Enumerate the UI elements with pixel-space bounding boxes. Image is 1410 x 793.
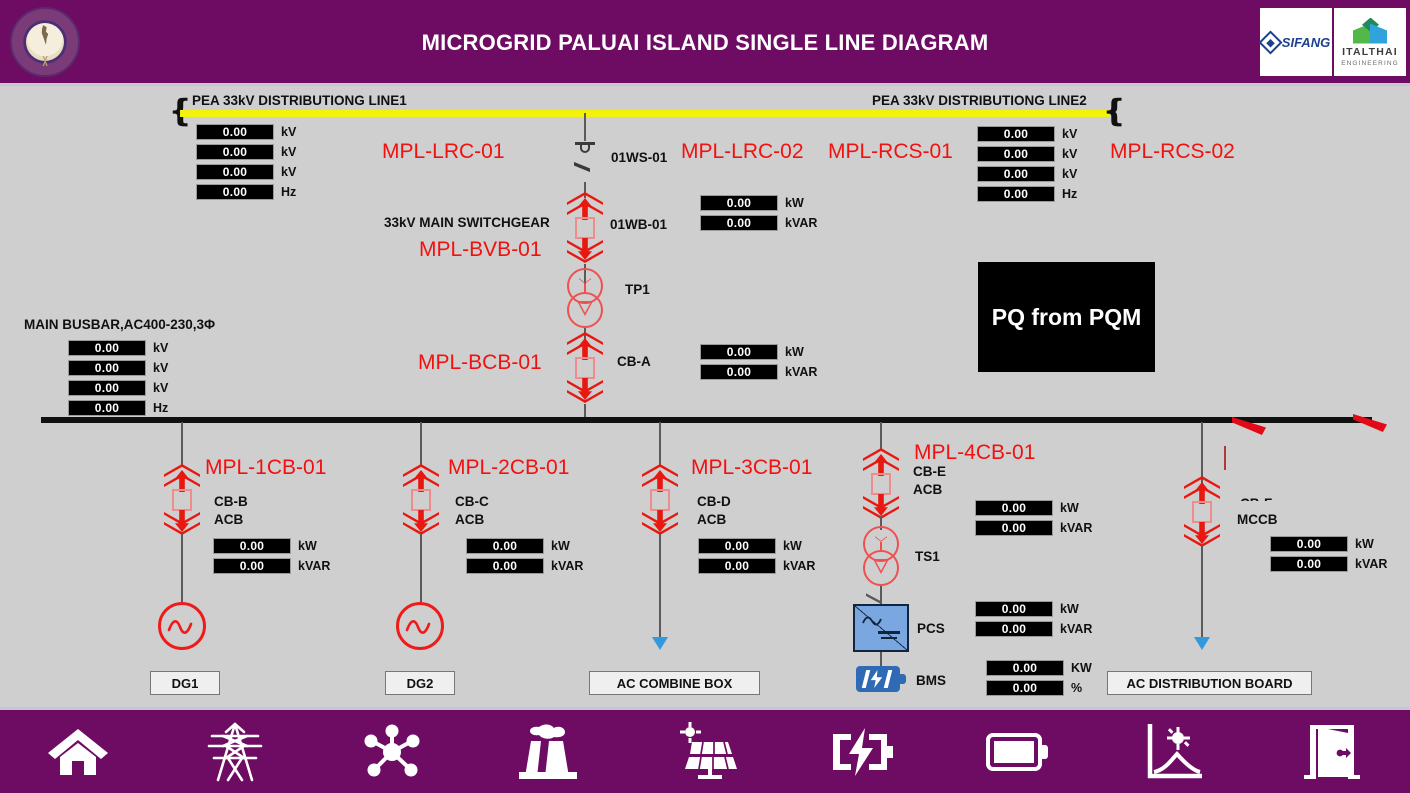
irradiance-chart-icon [1144,722,1206,782]
pq-from-pqm-panel[interactable]: PQ from PQM [978,262,1155,372]
load-feeder-wire-top [1201,422,1203,484]
disconnect-label-01ws-01: 01WS-01 [611,150,667,165]
disconnect-switch-01ws-01[interactable] [572,126,598,184]
breaker-body-icon [411,489,431,511]
wye-winding-icon [579,276,591,294]
readout-unit: kW [298,539,317,553]
readout-unit: kVAR [783,559,815,573]
main-breaker-meter-row: 0.00 kW [700,344,804,360]
sine-wave-icon [405,617,439,637]
line1-meter-row: 0.00 kV [196,164,296,180]
readout-value: 0.00 [466,538,544,554]
readout-value: 0.00 [196,144,274,160]
sifang-diamond-icon [1258,30,1282,54]
readout-unit: kW [785,345,804,359]
transformer-ts1[interactable] [858,526,904,588]
readout-value: 0.00 [700,344,778,360]
transformer-label-ts1: TS1 [915,549,940,564]
breaker-cb-d[interactable] [642,464,678,538]
breaker-type-cb-d: ACB [697,512,726,527]
bess-breaker-meter-row: 0.00 kVAR [975,520,1092,536]
feeder1-meter-row: 0.00 kW [213,538,317,554]
breaker-body-icon [650,489,670,511]
transmission-tower-icon [204,722,266,782]
line2-meter-row: 0.00 kV [977,166,1077,182]
readout-value: 0.00 [700,364,778,380]
breaker-label-cb-d: CB-D [697,494,731,509]
readout-unit: kVAR [785,216,817,230]
readout-unit: kW [783,539,802,553]
equipment-box-dg2[interactable]: DG2 [385,671,455,695]
feeder2-meter-row: 0.00 kVAR [466,558,583,574]
equipment-box-ac-distribution-board[interactable]: AC DISTRIBUTION BOARD [1107,671,1312,695]
readout-value: 0.00 [213,538,291,554]
readout-value: 0.00 [68,400,146,416]
breaker-label-cb-e: CB-E [913,464,946,479]
readout-value: 0.00 [700,195,778,211]
load-meter-row: 0.00 kVAR [1270,556,1387,572]
main-busbar[interactable] [41,417,1372,423]
breaker-cb-a[interactable] [567,332,603,406]
bottom-navigation-bar [0,707,1410,793]
line2-meter-row: 0.00 kV [977,126,1077,142]
pcs-meter-row: 0.00 kVAR [975,621,1092,637]
switchgear-section-label: 33kV MAIN SWITCHGEAR [384,215,550,230]
main-breaker-meter-row: 0.00 kVAR [700,364,817,380]
italthai-logo-text: ITALTHAI [1342,46,1398,58]
nav-trends-button[interactable] [1097,709,1254,793]
single-line-diagram: PEA 33kV DISTRIBUTIONG LINE1 PEA 33kV DI… [0,86,1410,707]
busbar-meter-row: 0.00 kV [68,340,168,356]
sifang-logo-text: SIFANG [1282,35,1330,50]
readout-value: 0.00 [975,621,1053,637]
readout-unit: kV [153,341,168,355]
bms-meter-row: 0.00 KW [986,660,1092,676]
feeder3-wire-bottom [659,534,661,639]
network-hub-icon [361,723,423,781]
readout-unit: kW [1060,602,1079,616]
readout-value: 0.00 [196,184,274,200]
readout-unit: kV [281,145,296,159]
solar-panel-icon [672,722,738,782]
main-busbar-label: MAIN BUSBAR,AC400-230,3Φ [24,317,215,332]
readout-unit: kW [551,539,570,553]
readout-unit: Hz [1062,187,1077,201]
nav-home-button[interactable] [0,709,157,793]
load-meter-row: 0.00 kW [1270,536,1374,552]
bess-wire-top [880,422,882,450]
breaker-cb-e[interactable] [863,448,899,522]
readout-value: 0.00 [68,380,146,396]
feeder3-meter-row: 0.00 kW [698,538,802,554]
pcs-inverter-icon[interactable] [853,604,909,652]
feeder3-meter-row: 0.00 kVAR [698,558,815,574]
breaker-01wb-01[interactable] [567,192,603,266]
readout-unit: kV [153,361,168,375]
transformer-tp1[interactable] [562,268,608,330]
breaker-type-cb-e: ACB [913,482,942,497]
bms-label: BMS [916,673,946,688]
breaker-body-icon [575,217,595,239]
line2-meter-row: 0.00 Hz [977,186,1077,202]
wreath-icon [30,56,60,66]
readout-unit: kVAR [1355,557,1387,571]
readout-unit: Hz [153,401,168,415]
readout-unit: kV [1062,167,1077,181]
relay-tag-mpl-2cb-01[interactable]: MPL-2CB-01 [448,456,569,480]
readout-value: 0.00 [1270,536,1348,552]
line1-title: PEA 33kV DISTRIBUTIONG LINE1 [192,93,407,108]
equipment-box-dg1[interactable]: DG1 [150,671,220,695]
readout-unit: kV [1062,127,1077,141]
exit-door-icon [1302,723,1362,781]
riser-wire-4 [584,404,586,418]
flow-arrow-down-icon [652,637,668,650]
line2-title: PEA 33kV DISTRIBUTIONG LINE2 [872,93,1087,108]
nav-diesel-generation-button[interactable] [470,709,627,793]
ac-sine-icon [862,613,882,631]
feeder3-wire-top [659,422,661,466]
isolator-blade-icon [574,150,590,184]
readout-value: 0.00 [700,215,778,231]
readout-value: 0.00 [698,558,776,574]
generator-icon-dg1[interactable] [158,602,206,650]
power-plant-icon [515,723,581,781]
home-icon [46,725,110,779]
readout-value: 0.00 [975,520,1053,536]
battery-charging-icon [829,726,895,778]
italthai-logo-subtext: ENGINEERING [1341,60,1399,67]
breaker-type-cb-c: ACB [455,512,484,527]
relay-tag-mpl-lrc-02[interactable]: MPL-LRC-02 [681,140,804,164]
relay-tag-mpl-4cb-01[interactable]: MPL-4CB-01 [914,441,1035,465]
nav-network-button[interactable] [313,709,470,793]
load-feeder-wire-bottom [1201,546,1203,639]
readout-unit: kV [281,165,296,179]
nav-battery-button[interactable] [940,709,1097,793]
header-bar: MICROGRID PALUAI ISLAND SINGLE LINE DIAG… [0,0,1410,86]
readout-unit: kW [1355,537,1374,551]
wye-winding-icon [875,534,887,552]
bms-battery-icon[interactable] [856,666,906,692]
readout-value: 0.00 [975,500,1053,516]
transformer-lv-winding-icon [567,292,603,328]
readout-unit: kVAR [298,559,330,573]
line1-hook-icon: ❴ [168,100,180,126]
readout-unit: kW [1060,501,1079,515]
breaker-label-cb-b: CB-B [214,494,248,509]
readout-value: 0.00 [196,124,274,140]
readout-value: 0.00 [213,558,291,574]
breaker-type-cb-b: ACB [214,512,243,527]
feeder2-wire-top [420,422,422,466]
battery-full-icon [985,730,1051,774]
bms-meter-row: 0.00 % [986,680,1082,696]
breaker-label-mccb: MCCB [1237,512,1278,527]
relay-tag-mpl-rcs-01[interactable]: MPL-RCS-01 [828,140,953,164]
nav-bess-charging-button[interactable] [783,709,940,793]
equipment-box-ac-combine-box[interactable]: AC COMBINE BOX [589,671,760,695]
breaker-label-cb-a: CB-A [617,354,651,369]
nav-exit-button[interactable] [1253,709,1410,793]
breaker-cb-c[interactable] [403,464,439,538]
readout-unit: KW [1071,661,1092,675]
feeder2-wire-bottom [420,534,422,602]
readout-unit: kVAR [1060,521,1092,535]
line1-meter-row: 0.00 kV [196,124,296,140]
generator-icon-dg2[interactable] [396,602,444,650]
italthai-logo: ITALTHAI ENGINEERING [1334,8,1406,76]
readout-unit: kVAR [551,559,583,573]
busbar-meter-row: 0.00 Hz [68,400,168,416]
breaker-mccb[interactable] [1184,476,1220,550]
battery-cap-icon [900,674,906,684]
transformer-label-tp1: TP1 [625,282,650,297]
breaker-label-cb-c: CB-C [455,494,489,509]
line1-meter-row: 0.00 Hz [196,184,296,200]
feeder1-wire-top [181,422,183,466]
readout-unit: kVAR [1060,622,1092,636]
readout-value: 0.00 [698,538,776,554]
feeder1-wire-bottom [181,534,183,602]
line1-meter-row: 0.00 kV [196,144,296,160]
pcs-label: PCS [917,621,945,636]
readout-value: 0.00 [986,660,1064,676]
scada-hmi-screen: MICROGRID PALUAI ISLAND SINGLE LINE DIAG… [0,0,1410,793]
relay-tag-mpl-rcs-02[interactable]: MPL-RCS-02 [1110,140,1235,164]
readout-value: 0.00 [977,166,1055,182]
readout-value: 0.00 [196,164,274,180]
busbar-meter-row: 0.00 kV [68,380,168,396]
readout-unit: Hz [281,185,296,199]
readout-value: 0.00 [977,146,1055,162]
breaker-body-icon [871,473,891,495]
breaker-body-icon [575,357,595,379]
readout-unit: kV [1062,147,1077,161]
breaker-body-icon [172,489,192,511]
breaker-label-01wb-01: 01WB-01 [610,217,667,232]
readout-unit: % [1071,681,1082,695]
readout-value: 0.00 [975,601,1053,617]
breaker-body-icon [1192,501,1212,523]
line2-meter-row: 0.00 kV [977,146,1077,162]
readout-value: 0.00 [977,186,1055,202]
readout-unit: kW [785,196,804,210]
feeder2-meter-row: 0.00 kW [466,538,570,554]
transformer-lv-winding-icon [863,550,899,586]
sine-wave-icon [167,617,201,637]
nav-solar-pv-button[interactable] [627,709,784,793]
relay-tag-mpl-lrc-01[interactable]: MPL-LRC-01 [382,140,505,164]
relay-tag-mpl-bvb-01[interactable]: MPL-BVB-01 [419,238,542,262]
hv-line-33kv [180,110,1110,117]
relay-tag-mpl-bcb-01[interactable]: MPL-BCB-01 [418,351,542,375]
italthai-mark-icon [1353,18,1387,44]
page-title: MICROGRID PALUAI ISLAND SINGLE LINE DIAG… [0,30,1410,56]
readout-value: 0.00 [466,558,544,574]
feeder-marker-line [1224,446,1226,470]
readout-value: 0.00 [1270,556,1348,572]
incomer-meter-row: 0.00 kW [700,195,804,211]
readout-value: 0.00 [68,360,146,376]
bess-breaker-meter-row: 0.00 kW [975,500,1079,516]
readout-unit: kV [281,125,296,139]
readout-value: 0.00 [68,340,146,356]
readout-value: 0.00 [977,126,1055,142]
pcs-meter-row: 0.00 kW [975,601,1079,617]
dc-dashes-icon [878,631,900,642]
readout-unit: kV [153,381,168,395]
relay-tag-mpl-3cb-01[interactable]: MPL-3CB-01 [691,456,812,480]
breaker-cb-b[interactable] [164,464,200,538]
sifang-logo: SIFANG [1260,8,1332,76]
feeder1-meter-row: 0.00 kVAR [213,558,330,574]
flow-arrow-down-icon [1194,637,1210,650]
line2-hook-icon: ❴ [1102,100,1114,126]
nav-grid-button[interactable] [157,709,314,793]
relay-tag-mpl-1cb-01[interactable]: MPL-1CB-01 [205,456,326,480]
incomer-meter-row: 0.00 kVAR [700,215,817,231]
clipped-breaker-label: CB-F [1240,496,1272,501]
busbar-meter-row: 0.00 kV [68,360,168,376]
readout-value: 0.00 [986,680,1064,696]
readout-unit: kVAR [785,365,817,379]
